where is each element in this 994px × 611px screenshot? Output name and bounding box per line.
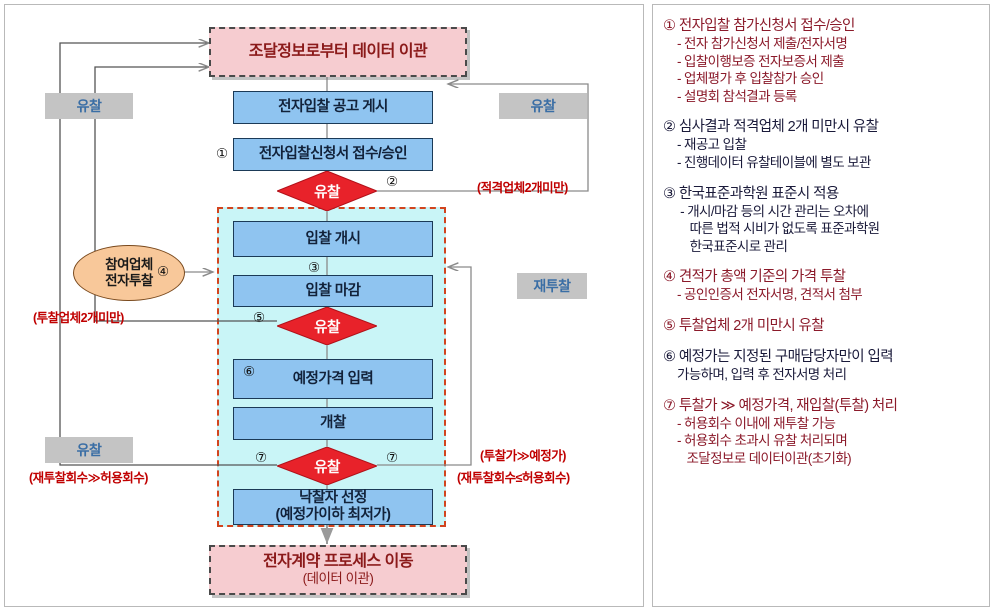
annotation-rebid-le-label: (재투찰회수≤허용회수) [457,471,570,485]
process-box-open: 입찰 개시 [233,221,433,257]
decision-diamond-5: 유찰 [277,307,377,345]
start-terminator-label: 조달정보로부터 데이터 이관 [249,43,428,61]
decision-diamond-2-label: 유찰 [277,171,377,211]
note-heading: ④ 견적가 총액 기준의 가격 투찰 [663,268,985,286]
annotation-price-gt-label: (투찰가≫예정가) [480,449,566,463]
process-box-close-label: 입찰 마감 [306,283,361,300]
tag-mid-right: 재투찰 [517,273,587,299]
process-box-award-label: 낙찰자 선정 [299,490,367,507]
process-box-award: 낙찰자 선정 (예정가이하 최저가) [233,489,433,525]
step-number-7-right-label: ⑦ [386,450,398,465]
decision-diamond-7-label: 유찰 [277,447,377,485]
note-subline: - 재공고 입찰 [663,136,985,154]
step-number-6: ⑥ [243,365,255,379]
process-box-open-label: 입찰 개시 [306,231,361,248]
tag-top-left-label: 유찰 [77,96,102,116]
process-box-close: 입찰 마감 [233,275,433,307]
participant-oval-line1: 참여업체 [105,257,153,273]
note-heading: ⑤ 투찰업체 2개 미만시 유찰 [663,317,985,335]
step-number-3: ③ [308,261,320,275]
note-subline: - 공인인증서 전자서명, 견적서 첨부 [663,286,985,304]
step-number-1: ① [216,147,228,161]
process-box-reveal-label: 개찰 [320,415,346,432]
step-number-4: ④ [157,265,169,279]
tag-top-left: 유찰 [45,93,133,119]
note-subline: - 입찰이행보증 전자보증서 제출 [663,53,985,71]
process-box-award-sublabel: (예정가이하 최저가) [276,507,391,524]
annotation-bidder-count: (투찰업체2개미만) [33,307,124,326]
note-subline: 조달정보로 데이터이관(초기화) [663,450,985,468]
end-terminator-sublabel: (데이터 이관) [303,571,374,587]
note-subline: - 진행데이터 유찰테이블에 별도 보관 [663,154,985,172]
step-number-7-left: ⑦ [255,451,267,465]
note-subline: - 허용회수 이내에 재투찰 가능 [663,415,985,433]
annotation-rebid-gt: (재투찰회수≫허용회수) [29,467,148,486]
note-item: ⑥ 예정가는 지정된 구매담당자만이 입력가능하며, 입력 후 전자서명 처리 [663,348,985,384]
flowchart-panel: 조달정보로부터 데이터 이관 전자입찰 공고 게시 전자입찰신청서 접수/승인 … [4,4,644,607]
annotation-eligible-label: (적격업체2개미만) [477,181,568,195]
tag-bottom-left: 유찰 [45,437,133,463]
step-number-4-label: ④ [157,264,169,279]
note-item: ① 전자입찰 참가신청서 접수/승인- 전자 참가신청서 제출/전자서명- 입찰… [663,17,985,105]
annotation-bidder-count-label: (투찰업체2개미만) [33,311,124,325]
process-box-price: 예정가격 입력 [233,359,433,399]
decision-diamond-2: 유찰 [277,171,377,211]
note-heading: ② 심사결과 적격업체 2개 미만시 유찰 [663,118,985,136]
note-subline: - 개시/마감 등의 시간 관리는 오차에 [663,203,985,221]
tag-bottom-left-label: 유찰 [77,440,102,460]
note-heading: ⑦ 투찰가 ≫ 예정가격, 재입찰(투찰) 처리 [663,397,985,415]
step-number-6-label: ⑥ [243,364,255,379]
note-heading: ⑥ 예정가는 지정된 구매담당자만이 입력 [663,348,985,366]
note-item: ③ 한국표준과학원 표준시 적용 - 개시/마감 등의 시간 관리는 오차에 따… [663,185,985,256]
note-subline: - 업체평가 후 입찰참가 승인 [663,70,985,88]
note-item: ⑦ 투찰가 ≫ 예정가격, 재입찰(투찰) 처리- 허용회수 이내에 재투찰 가… [663,397,985,468]
step-number-5-label: ⑤ [253,310,265,325]
notes-panel: ① 전자입찰 참가신청서 접수/승인- 전자 참가신청서 제출/전자서명- 입찰… [652,4,990,607]
annotation-rebid-gt-label: (재투찰회수≫허용회수) [29,471,148,485]
annotation-eligible: (적격업체2개미만) [477,177,568,196]
step-number-5: ⑤ [253,311,265,325]
note-item: ② 심사결과 적격업체 2개 미만시 유찰- 재공고 입찰- 진행데이터 유찰테… [663,118,985,171]
note-subline: 따른 법적 시비가 없도록 표준과학원 [663,220,985,238]
step-number-7-right: ⑦ [386,451,398,465]
step-number-2: ② [386,175,398,189]
note-subline: 한국표준시로 관리 [663,238,985,256]
decision-diamond-5-label: 유찰 [277,307,377,345]
annotation-price-gt: (투찰가≫예정가) [480,445,566,464]
note-subline: 가능하며, 입력 후 전자서명 처리 [663,366,985,384]
note-heading: ③ 한국표준과학원 표준시 적용 [663,185,985,203]
tag-top-right-label: 유찰 [531,96,556,116]
process-box-apply-label: 전자입찰신청서 접수/승인 [259,146,407,163]
process-box-notice-label: 전자입찰 공고 게시 [278,99,388,116]
diagram-page: 조달정보로부터 데이터 이관 전자입찰 공고 게시 전자입찰신청서 접수/승인 … [0,0,994,611]
participant-oval-line2: 전자투찰 [105,273,153,289]
note-item: ④ 견적가 총액 기준의 가격 투찰- 공인인증서 전자서명, 견적서 첨부 [663,268,985,304]
decision-diamond-7: 유찰 [277,447,377,485]
tag-top-right: 유찰 [499,93,587,119]
step-number-2-label: ② [386,174,398,189]
note-subline: - 허용회수 초과시 유찰 처리되며 [663,432,985,450]
note-subline: - 전자 참가신청서 제출/전자서명 [663,35,985,53]
notes-list: ① 전자입찰 참가신청서 접수/승인- 전자 참가신청서 제출/전자서명- 입찰… [663,17,985,481]
tag-mid-right-label: 재투찰 [533,276,570,296]
step-number-3-label: ③ [308,260,320,275]
step-number-1-label: ① [216,146,228,161]
process-box-price-label: 예정가격 입력 [293,371,374,388]
step-number-7-left-label: ⑦ [255,450,267,465]
process-box-reveal: 개찰 [233,407,433,440]
end-terminator: 전자계약 프로세스 이동 (데이터 이관) [209,545,467,595]
note-heading: ① 전자입찰 참가신청서 접수/승인 [663,17,985,35]
process-box-notice: 전자입찰 공고 게시 [233,91,433,124]
process-box-apply: 전자입찰신청서 접수/승인 [233,138,433,171]
end-terminator-label: 전자계약 프로세스 이동 [263,553,413,571]
note-subline: - 설명회 참석결과 등록 [663,88,985,106]
annotation-rebid-le: (재투찰회수≤허용회수) [457,467,570,486]
note-item: ⑤ 투찰업체 2개 미만시 유찰 [663,317,985,335]
start-terminator: 조달정보로부터 데이터 이관 [209,27,467,77]
